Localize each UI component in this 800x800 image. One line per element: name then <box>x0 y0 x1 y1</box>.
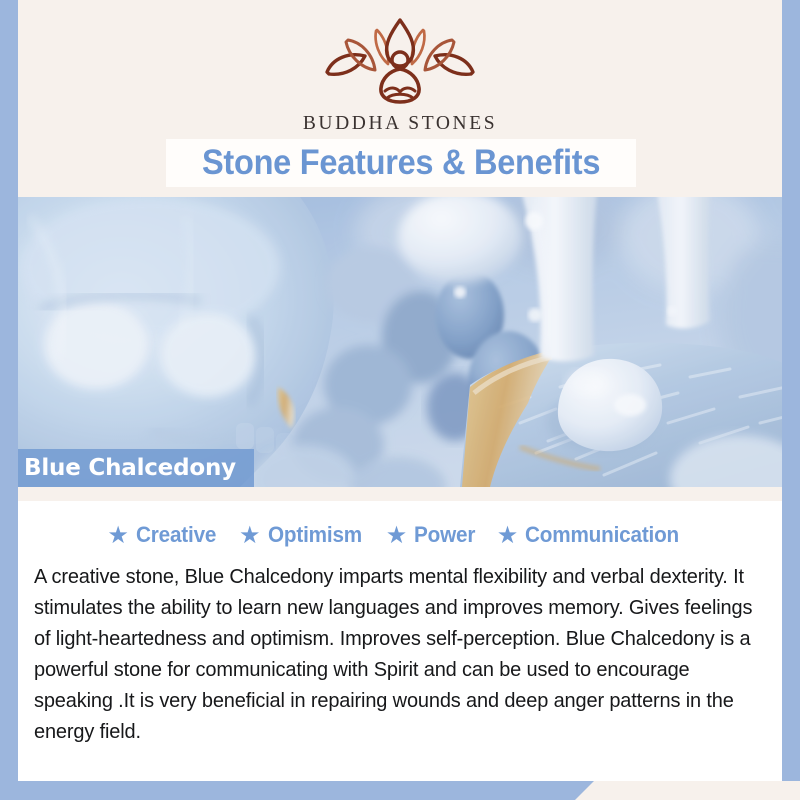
star-icon: ★ <box>239 524 261 548</box>
photo-caption-chip: Blue Chalcedony <box>18 449 254 487</box>
keyword-label: Optimism <box>268 522 362 548</box>
keyword-label: Power <box>414 522 475 548</box>
keyword-item-communication: ★ Communication <box>497 522 693 548</box>
stone-photo: Blue Chalcedony <box>18 197 782 487</box>
header-section: BUDDHA STONES Stone Features & Benefits <box>18 0 782 197</box>
stone-name-label: Blue Chalcedony <box>24 455 236 481</box>
keyword-item-power: ★ Power <box>386 522 481 548</box>
brand-name: BUDDHA STONES <box>18 113 782 135</box>
keyword-list: ★ Creative ★ Optimism ★ Power ★ Communic… <box>18 522 782 548</box>
photo-under-strip <box>18 487 782 501</box>
description-paragraph: A creative stone, Blue Chalcedony impart… <box>34 562 755 748</box>
content-card: BUDDHA STONES Stone Features & Benefits <box>18 0 782 781</box>
header-title-band: Stone Features & Benefits <box>166 139 636 187</box>
star-icon: ★ <box>497 524 519 548</box>
keyword-label: Communication <box>525 522 679 548</box>
body-section: ★ Creative ★ Optimism ★ Power ★ Communic… <box>18 501 782 781</box>
page-title: Stone Features & Benefits <box>202 143 600 183</box>
brand-logo: BUDDHA STONES <box>18 16 782 135</box>
keyword-item-creative: ★ Creative <box>107 522 223 548</box>
lotus-meditation-icon <box>18 16 782 108</box>
infographic-page: BUDDHA STONES Stone Features & Benefits <box>0 0 800 800</box>
bottom-corner-wedge <box>560 781 800 800</box>
keyword-item-optimism: ★ Optimism <box>239 522 370 548</box>
star-icon: ★ <box>386 524 408 548</box>
star-icon: ★ <box>107 524 129 548</box>
keyword-label: Creative <box>136 522 216 548</box>
